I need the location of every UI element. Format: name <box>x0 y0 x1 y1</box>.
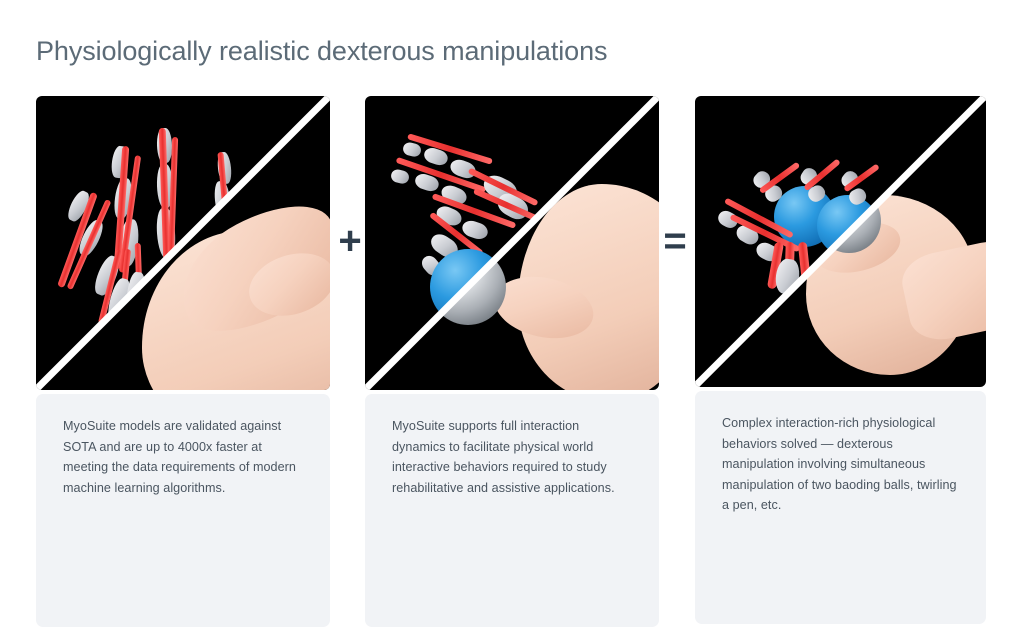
figure-illustration <box>36 96 330 390</box>
plus-operator: + <box>330 216 370 266</box>
caption-card: MyoSuite supports full interaction dynam… <box>365 394 659 627</box>
caption-text: Complex interaction-rich physiological b… <box>722 413 960 516</box>
slide-root: Physiologically realistic dexterous mani… <box>0 0 1024 576</box>
equals-operator: = <box>655 216 695 266</box>
figure-hand-open <box>36 96 330 390</box>
page-title: Physiologically realistic dexterous mani… <box>36 36 607 67</box>
caption-card: MyoSuite models are validated against SO… <box>36 394 330 627</box>
figure-hand-two-baoding-balls <box>695 96 986 387</box>
caption-text: MyoSuite models are validated against SO… <box>63 416 304 498</box>
figure-hand-single-ball <box>365 96 659 390</box>
figure-illustration <box>695 96 986 387</box>
panel-validation: MyoSuite models are validated against SO… <box>36 96 330 390</box>
panel-interaction: MyoSuite supports full interaction dynam… <box>365 96 659 390</box>
panels-row: MyoSuite models are validated against SO… <box>0 96 1024 536</box>
bone-segment <box>402 141 422 158</box>
caption-card: Complex interaction-rich physiological b… <box>695 391 986 624</box>
panel-behaviors: Complex interaction-rich physiological b… <box>695 96 986 387</box>
caption-text: MyoSuite supports full interaction dynam… <box>392 416 633 498</box>
bone-segment <box>390 168 410 185</box>
figure-illustration <box>365 96 659 390</box>
